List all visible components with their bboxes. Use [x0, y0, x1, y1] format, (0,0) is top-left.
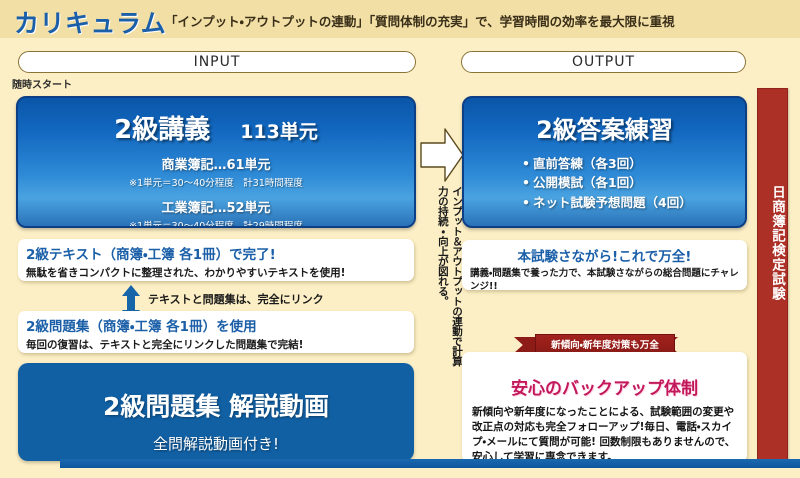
flow-description-vertical-text: インプット＆アウトプットの連動で計算力の持続・向上が図れる。 — [422, 186, 464, 366]
textbook-workbook-link-label: テキストと問題集は、完全にリンク — [148, 291, 324, 307]
exam-name-label: 日商簿記検定試験 — [758, 185, 787, 365]
video-lesson-card: 2級問題集 解説動画 全問解説動画付き! — [18, 363, 414, 461]
lecture-row-note: ※1単元＝30〜40分程度 計29時間程度 — [18, 218, 414, 228]
workbook-card: 2級問題集（商簿・工簿 各1冊）を使用 毎回の復習は、テキストと完全にリンクした… — [18, 311, 414, 353]
answer-practice-list: 直前答練（各3回） 公開模試（各1回） ネット試験予想問題（4回） — [464, 154, 745, 212]
backup-support-title: 安心のバックアップ体制 — [472, 374, 737, 399]
output-column-pill: OUTPUT — [461, 51, 746, 73]
answer-practice-title: 2級答案練習 — [464, 110, 745, 145]
mock-exam-card: 本試験さながら!これで万全! 講義・問題集で養った力で、本試験さながらの総合問題… — [462, 240, 747, 290]
video-lesson-title: 2級問題集 解説動画 — [18, 387, 414, 423]
input-column-label: INPUT — [194, 54, 241, 70]
lecture-card: 2級講義 113単元 商業簿記…61単元 ※1単元＝30〜40分程度 計31時間… — [16, 96, 416, 228]
page-subtitle: 「インプット・アウトプットの連動」「質問体制の充実」で、学習時間の効率を最大限に… — [165, 11, 675, 30]
ribbon-label: 新傾向・新年度対策も万全 — [535, 334, 675, 353]
backup-support-card: 安心のバックアップ体制 新傾向や新年度になったことによる、試験範囲の変更や改正点… — [462, 352, 747, 462]
list-item: 直前答練（各3回） — [522, 154, 745, 173]
lecture-unit-count: 113単元 — [240, 117, 318, 144]
curriculum-infographic: カリキュラム 「インプット・アウトプットの連動」「質問体制の充実」で、学習時間の… — [0, 0, 800, 478]
bottom-accent-strip — [60, 459, 800, 468]
textbook-card: 2級テキスト（商簿・工簿 各1冊）で完了! 無駄を省きコンパクトに整理された、わ… — [18, 239, 414, 281]
lecture-title: 2級講義 — [114, 109, 210, 146]
right-arrow-icon — [420, 126, 464, 184]
textbook-headline: 2級テキスト（商簿・工簿 各1冊）で完了! — [26, 243, 414, 263]
list-item: 公開模試（各1回） — [522, 173, 745, 192]
video-lesson-subtitle: 全問解説動画付き! — [18, 433, 414, 454]
lecture-row-note: ※1単元＝30〜40分程度 計31時間程度 — [18, 175, 414, 189]
mock-exam-body: 講義・問題集で養った力で、本試験さながらの総合問題にチャレンジ!! — [470, 268, 739, 294]
page-title: カリキュラム — [14, 4, 166, 40]
exam-name-sidebar: 日商簿記検定試験 — [757, 88, 788, 463]
lecture-row-heading: 商業簿記…61単元 — [18, 154, 414, 173]
input-column-pill: INPUT — [18, 51, 416, 73]
lecture-card-header: 2級講義 113単元 — [18, 109, 414, 146]
list-item: ネット試験予想問題（4回） — [522, 193, 745, 212]
lecture-row-heading: 工業簿記…52単元 — [18, 197, 414, 216]
anytime-start-note: 随時スタート — [12, 76, 72, 91]
workbook-body: 毎回の復習は、テキストと完全にリンクした問題集で完結! — [26, 337, 414, 352]
answer-practice-card: 2級答案練習 直前答練（各3回） 公開模試（各1回） ネット試験予想問題（4回） — [462, 96, 747, 228]
textbook-body: 無駄を省きコンパクトに整理された、わかりやすいテキストを使用! — [26, 265, 414, 280]
backup-support-body: 新傾向や新年度になったことによる、試験範囲の変更や改正点の対応も完全フォローアッ… — [472, 405, 737, 465]
workbook-headline: 2級問題集（商簿・工簿 各1冊）を使用 — [26, 315, 414, 335]
mock-exam-headline: 本試験さながら!これで万全! — [470, 245, 739, 265]
output-column-label: OUTPUT — [572, 54, 635, 70]
